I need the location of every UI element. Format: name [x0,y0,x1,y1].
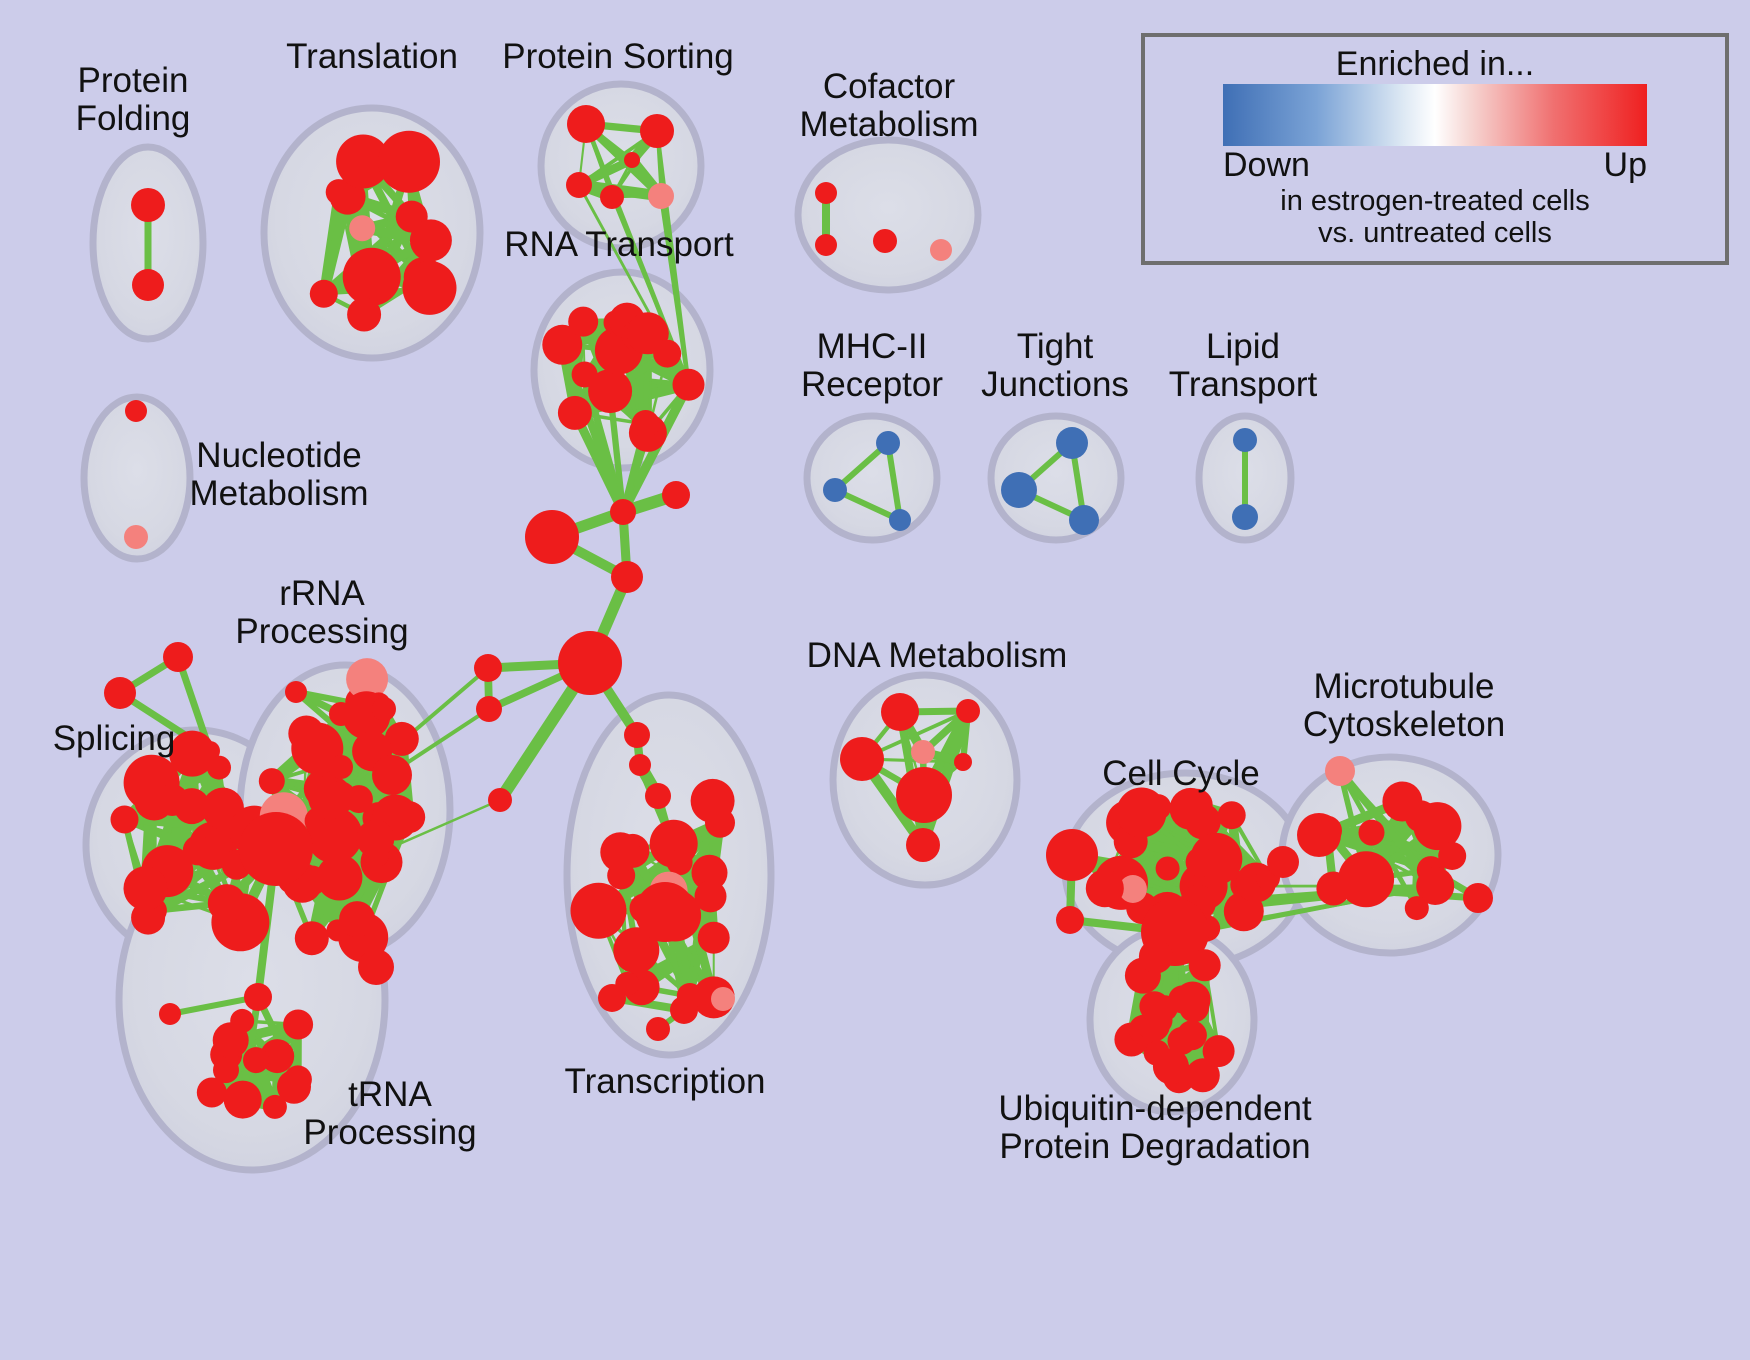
cluster-label-microtubule-cytoskeleton: Microtubule Cytoskeleton [1303,668,1505,744]
cluster-label-splicing: Splicing [53,720,176,758]
network-node [329,755,353,779]
network-node [283,1010,313,1040]
network-node [525,510,579,564]
network-node [1316,872,1350,906]
network-node [111,806,139,834]
cluster-label-tight-junctions: Tight Junctions [981,328,1129,404]
network-node [1218,801,1246,829]
network-node [372,697,396,721]
network-node [1312,816,1342,846]
network-node [1156,857,1180,881]
network-node [1359,820,1385,846]
network-node [823,478,847,502]
network-node [124,866,168,910]
network-node [1405,896,1429,920]
network-node [873,229,897,253]
network-node [930,239,952,261]
network-node [131,188,165,222]
network-node [954,753,972,771]
network-node [1267,846,1299,878]
network-node [1438,842,1466,870]
cluster-label-nucleotide-metabolism: Nucleotide Metabolism [190,437,369,513]
network-node [159,1003,181,1025]
network-node [208,884,246,922]
network-node [640,114,674,148]
network-node [635,882,695,942]
network-node [1056,427,1088,459]
network-node [230,1009,254,1033]
network-node [611,561,643,593]
network-node [1325,756,1355,786]
network-node [410,219,452,261]
network-node [1139,940,1173,974]
cluster-label-translation: Translation [286,38,458,76]
network-node [1232,504,1258,530]
network-node [1001,472,1037,508]
network-node [876,431,900,455]
legend-sub-line-2: vs. untreated cells [1223,217,1647,249]
cluster-label-transcription: Transcription [565,1063,766,1101]
cluster-label-rrna-processing: rRNA Processing [235,575,408,651]
network-node [889,509,911,531]
network-node [896,767,952,823]
legend-title: Enriched in... [1223,45,1647,84]
network-node [356,820,394,858]
network-node [403,261,457,315]
network-node [815,182,837,204]
cluster-label-mhc-ii-receptor: MHC-II Receptor [801,328,943,404]
network-node [610,499,636,525]
network-node [239,812,313,886]
network-node [372,755,412,795]
network-node [698,922,730,954]
network-node [558,396,592,430]
network-node [476,696,502,722]
network-node [624,722,650,748]
cluster-label-protein-folding: Protein Folding [76,62,191,138]
network-node [329,702,353,726]
network-node [1203,1035,1235,1067]
network-node [1186,847,1216,877]
network-node [349,215,375,241]
legend-sub-line-1: in estrogen-treated cells [1223,185,1647,217]
halo-mhc-ii-receptor [807,416,937,540]
network-node [243,1047,269,1073]
network-node [815,234,837,256]
network-node [711,987,735,1011]
network-node [1179,992,1209,1022]
network-node [653,340,681,368]
network-node [600,832,640,872]
network-node [327,919,349,941]
network-node [1145,794,1171,820]
network-node [343,248,401,306]
network-node [645,783,671,809]
network-node [1233,428,1257,452]
network-node [347,298,381,332]
network-node [911,740,935,764]
legend-high-label: Up [1604,146,1647,185]
network-node [624,152,640,168]
network-node [571,883,627,939]
network-node [1069,505,1099,535]
network-node [558,631,622,695]
network-node [263,1095,287,1119]
network-node [662,481,690,509]
network-node [125,400,147,422]
legend-gradient-bar [1223,84,1647,146]
network-node [629,754,651,776]
network-node [568,307,598,337]
cluster-label-dna-metabolism: DNA Metabolism [807,637,1068,675]
network-node [632,410,660,438]
network-node [163,642,193,672]
network-node [1056,906,1084,934]
network-node [104,677,136,709]
network-node [1046,829,1098,881]
network-node [598,984,626,1012]
network-node [881,693,919,731]
network-node [566,172,592,198]
cluster-label-rna-transport: RNA Transport [504,226,734,264]
network-node [124,525,148,549]
network-node [840,737,884,781]
network-node [1086,869,1124,907]
network-node [600,185,624,209]
network-node [572,362,598,388]
cluster-label-cofactor-metabolism: Cofactor Metabolism [800,68,979,144]
network-node [345,785,373,813]
network-node [670,996,698,1024]
network-node [567,105,605,143]
network-node [310,280,338,308]
network-node [1189,949,1221,981]
network-node [956,699,980,723]
network-node [288,716,324,752]
network-node [648,183,674,209]
cluster-label-lipid-transport: Lipid Transport [1169,328,1317,404]
network-node [705,808,735,838]
cluster-label-cell-cycle: Cell Cycle [1102,755,1260,793]
legend-low-label: Down [1223,146,1310,185]
network-node [244,983,272,1011]
network-node [224,1081,262,1119]
network-node [285,681,307,703]
cluster-label-ubiquitin-protein-degradation: Ubiquitin-dependent Protein Degradation [998,1090,1311,1166]
network-node [378,131,440,193]
network-node [695,880,727,912]
network-node [200,741,220,761]
network-node [132,269,164,301]
legend-panel: Enriched in... Down Up in estrogen-treat… [1141,33,1729,265]
network-node [646,1017,670,1041]
network-node [259,768,285,794]
network-figure: Protein FoldingTranslationProtein Sortin… [0,0,1750,1360]
network-node [393,801,425,833]
network-node [488,788,512,812]
network-node [1463,883,1493,913]
network-node [295,921,329,955]
cluster-label-protein-sorting: Protein Sorting [502,38,734,76]
network-node [667,849,693,875]
network-node [906,828,940,862]
network-node [358,949,394,985]
cluster-label-trna-processing: tRNA Processing [303,1076,476,1152]
network-node [474,654,502,682]
network-node [673,369,705,401]
